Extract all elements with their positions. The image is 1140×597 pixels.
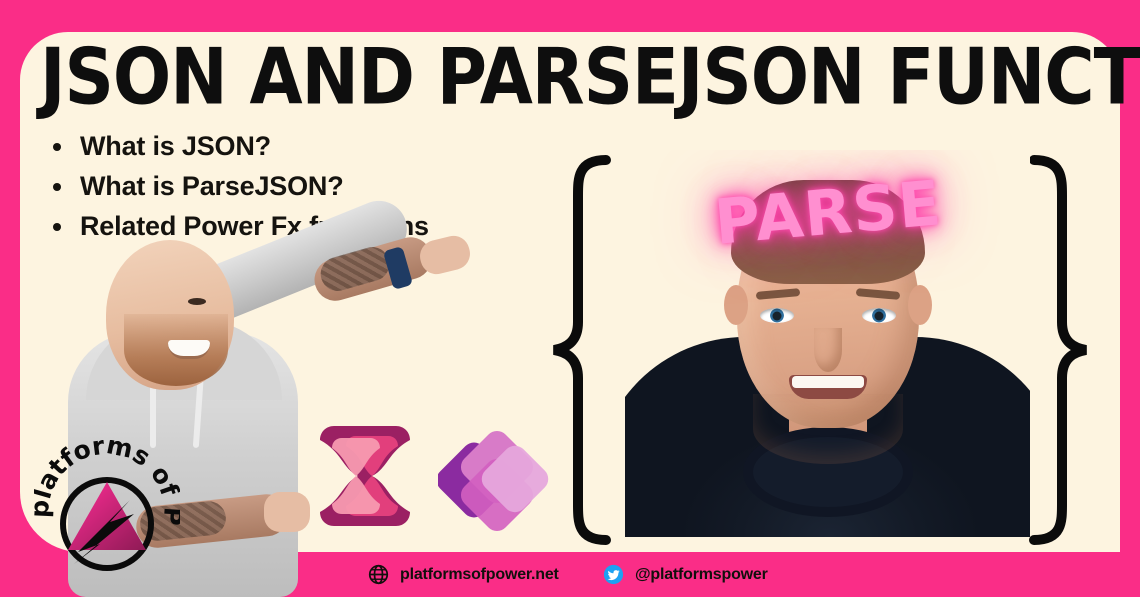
power-apps-logo [438,428,552,532]
presenter-headshot-photo: PARSE [625,150,1030,537]
curly-brace-close-icon [1022,152,1092,548]
headshot-ear-right [908,285,932,325]
footer-website[interactable]: platformsofpower.net [368,564,559,585]
page-title: JSON and ParseJSON Functions [40,36,1140,119]
presenter-eye [188,298,206,305]
footer-twitter[interactable]: @platformspower [603,564,768,585]
presenter-fist [264,492,310,532]
list-item: What is ParseJSON? [44,166,429,206]
headshot-eye-left [760,308,794,323]
curly-brace-open-icon [548,152,618,548]
headshot-mouth [789,375,867,399]
headshot-eye-right [862,308,896,323]
footer-website-label: platformsofpower.net [400,566,559,584]
list-item: What is JSON? [44,126,429,166]
footer-twitter-label: @platformspower [635,566,768,584]
headshot-nose [814,328,842,372]
slide-canvas: JSON and ParseJSON Functions What is JSO… [0,0,1140,597]
platforms-of-power-logo: platforms of Power [34,440,180,586]
headshot-ear-left [724,285,748,325]
globe-icon [368,564,389,585]
twitter-bird-icon [603,564,624,585]
